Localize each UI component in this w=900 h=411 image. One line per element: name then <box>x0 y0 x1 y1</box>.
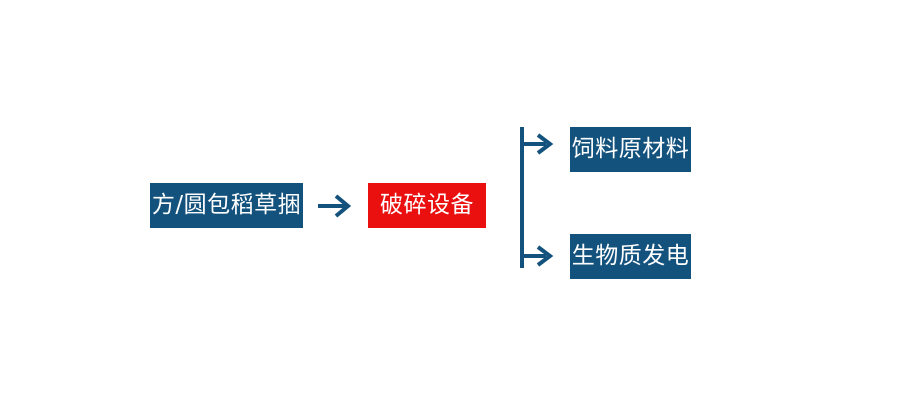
node-crushing-equipment[interactable]: 破碎设备 <box>368 183 486 228</box>
arrow-right-icon <box>314 191 358 221</box>
branch-split-icon <box>512 118 568 278</box>
node-feed-raw-material[interactable]: 饲料原材料 <box>570 127 691 172</box>
node-biomass-power-generation[interactable]: 生物质发电 <box>570 234 691 279</box>
node-source-material[interactable]: 方/圆包稻草捆 <box>150 183 303 228</box>
process-flow-diagram: 方/圆包稻草捆 破碎设备 饲料原材料 生物质发电 <box>0 0 900 411</box>
